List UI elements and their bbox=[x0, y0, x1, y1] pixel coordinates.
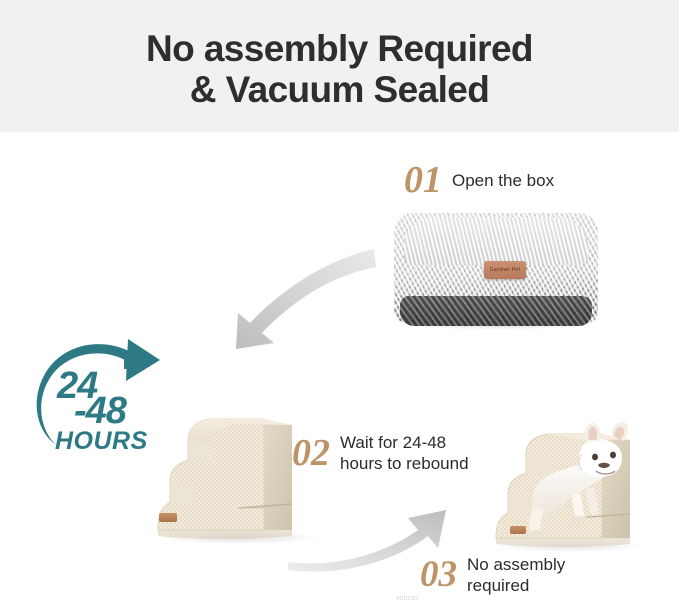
french-bulldog-on-pet-stairs-image bbox=[486, 414, 656, 554]
step-03-number: 03 bbox=[420, 556, 457, 594]
pet-stairs-brand-tag bbox=[159, 513, 177, 522]
header-band: No assembly Required & Vacuum Sealed bbox=[0, 0, 679, 132]
arrow-box-to-stairs-icon bbox=[178, 245, 378, 360]
bag-top-surface bbox=[404, 217, 588, 265]
dogscene-brand-tag bbox=[510, 526, 526, 534]
step-01-text: Open the box bbox=[452, 170, 554, 191]
bag-bottom-fold bbox=[400, 296, 592, 326]
step-01-number: 01 bbox=[404, 161, 442, 199]
page-title: No assembly Required & Vacuum Sealed bbox=[0, 28, 679, 110]
step-03-label: 03 No assembly required bbox=[420, 554, 565, 596]
bag-brand-label-text: Gardner Pet bbox=[490, 267, 521, 273]
step-02-label: 02 Wait for 24-48 hours to rebound bbox=[292, 432, 469, 474]
infographic-page: No assembly Required & Vacuum Sealed 01 … bbox=[0, 0, 679, 608]
step-01-label: 01 Open the box bbox=[404, 161, 554, 199]
step-02-number: 02 bbox=[292, 434, 330, 472]
step-03-text: No assembly required bbox=[467, 554, 565, 596]
step-02-text: Wait for 24-48 hours to rebound bbox=[340, 432, 469, 474]
watermark: TOUCOJ bbox=[396, 596, 419, 602]
bag-brand-label: Gardner Pet bbox=[484, 261, 526, 279]
vacuum-sealed-bag-image: Gardner Pet bbox=[394, 213, 598, 328]
